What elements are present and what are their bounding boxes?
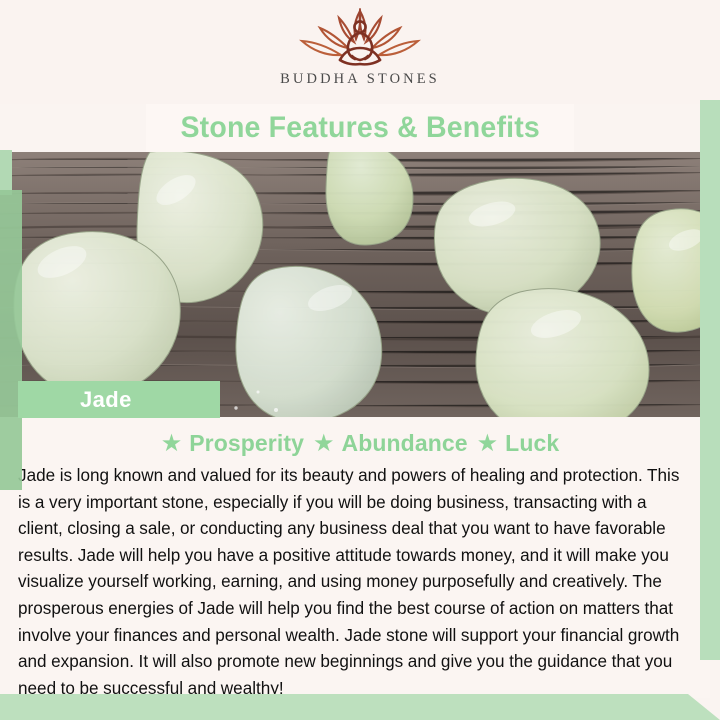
lotus-meditation-figure-icon bbox=[294, 8, 426, 70]
brand-wordmark: BUDDHA STONES bbox=[280, 71, 440, 88]
benefit-luck: ★ Luck bbox=[477, 430, 560, 457]
benefit-prosperity: ★ Prosperity bbox=[161, 430, 304, 457]
star-icon: ★ bbox=[313, 432, 335, 456]
benefit-label: Luck bbox=[505, 430, 559, 457]
description-text: Jade is long known and valued for its be… bbox=[18, 462, 694, 701]
star-icon: ★ bbox=[477, 432, 499, 456]
left-green-accent-strip bbox=[0, 190, 22, 490]
stone-name-bar: Jade bbox=[18, 381, 220, 418]
stone-photo bbox=[0, 152, 720, 417]
bottom-green-band bbox=[0, 694, 720, 720]
star-icon: ★ bbox=[161, 432, 183, 456]
stone-name-label: Jade bbox=[80, 387, 132, 413]
stone-benefits-card: BUDDHA STONES Stone Features & Benefits bbox=[0, 0, 720, 720]
benefits-row: ★ Prosperity ★ Abundance ★ Luck bbox=[10, 418, 710, 457]
right-green-accent-strip bbox=[700, 100, 720, 660]
left-green-accent-top bbox=[0, 150, 12, 195]
content-panel: ★ Prosperity ★ Abundance ★ Luck Jade is … bbox=[10, 418, 710, 698]
benefit-label: Prosperity bbox=[189, 430, 304, 457]
brand-logo: BUDDHA STONES bbox=[0, 8, 720, 88]
benefit-label: Abundance bbox=[342, 430, 468, 457]
header: BUDDHA STONES bbox=[0, 0, 720, 104]
benefit-abundance: ★ Abundance bbox=[313, 430, 468, 457]
page-title: Stone Features & Benefits bbox=[180, 111, 540, 145]
title-banner: Stone Features & Benefits bbox=[146, 104, 574, 152]
